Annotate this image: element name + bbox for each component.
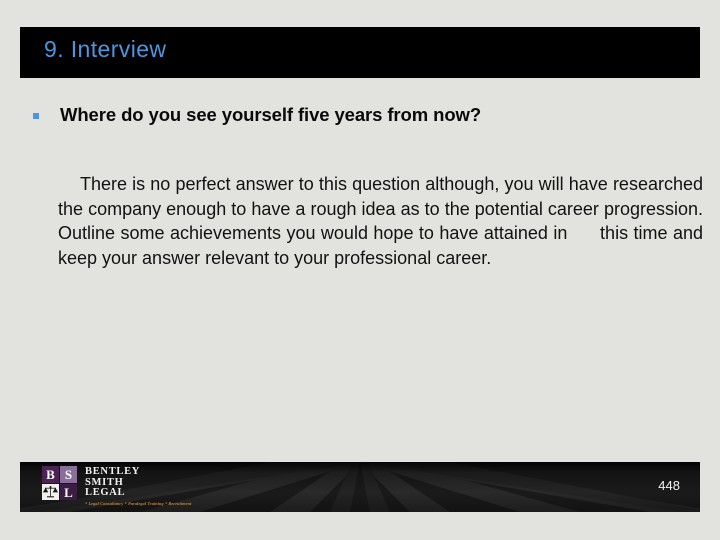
scales-of-justice-icon [42, 484, 59, 500]
logo-word-legal: LEGAL [85, 488, 191, 499]
logo-wordmark: BENTLEY SMITH LEGAL * Legal Consultancy … [85, 467, 191, 506]
slide-footer: B S L BE [20, 462, 700, 512]
logo-letter-l: L [60, 466, 77, 500]
square-bullet-icon [33, 113, 39, 119]
logo-mark-grid: B S L [42, 466, 78, 500]
slide: 9. Interview Where do you see yourself f… [0, 0, 720, 540]
question-heading: Where do you see yourself five years fro… [60, 104, 481, 126]
title-banner: 9. Interview [20, 27, 700, 78]
page-number: 448 [658, 478, 680, 493]
heading-row: Where do you see yourself five years fro… [20, 100, 700, 130]
answer-paragraph: There is no perfect answer to this quest… [58, 172, 703, 270]
slide-body: Where do you see yourself five years fro… [20, 100, 700, 130]
page-title: 9. Interview [44, 36, 166, 63]
logo-letter-b: B [42, 466, 59, 483]
logo-word-bentley: BENTLEY [85, 467, 191, 478]
company-logo: B S L BE [42, 464, 191, 510]
logo-tagline: * Legal Consultancy * Paralegal Training… [85, 501, 191, 506]
